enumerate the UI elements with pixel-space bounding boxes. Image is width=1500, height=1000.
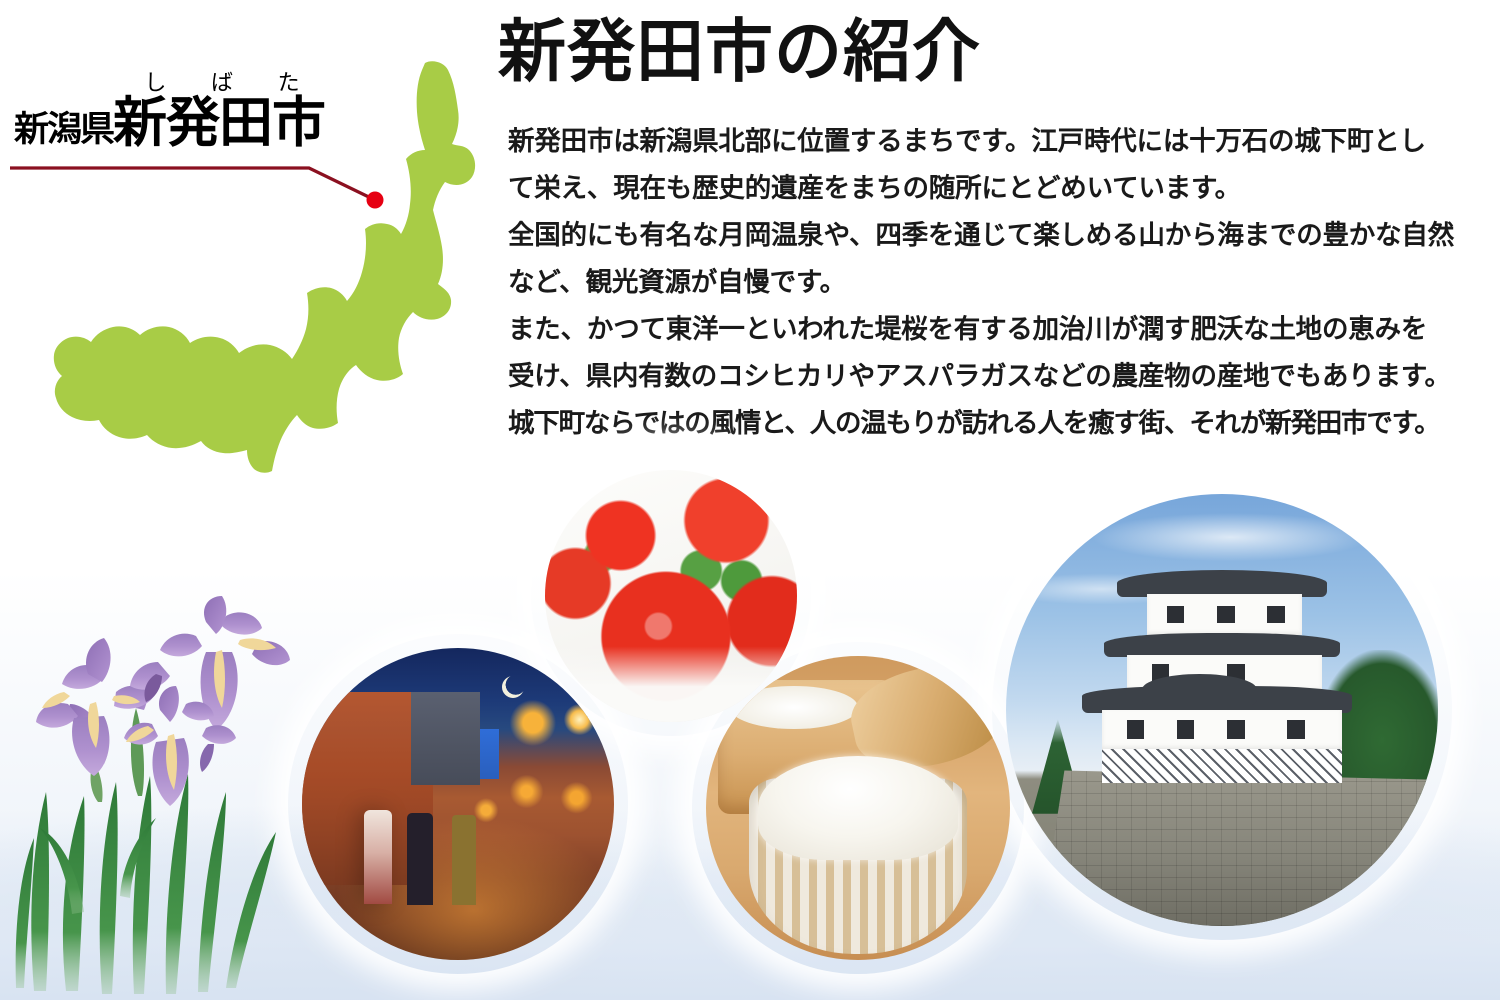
castle-image	[1006, 494, 1438, 926]
neon-sign	[480, 729, 499, 779]
body-line-4: など、観光資源が自慢です。	[508, 259, 1473, 306]
leader-polyline	[10, 168, 375, 200]
rice-image	[706, 656, 1010, 960]
window-top-3	[1267, 606, 1285, 623]
region-label-main: 新潟県新発田市	[14, 96, 325, 150]
poster-canvas: し ば た 新潟県新発田市 新発田市の紹介 新発田市は新潟県北部に位置するまちで…	[0, 0, 1500, 1000]
roof-dormer	[1142, 674, 1257, 705]
window-top-2	[1217, 606, 1235, 623]
furigana-row: し ば た	[122, 72, 322, 94]
city-name: 新発田市	[113, 93, 325, 153]
body-line-5: また、かつて東洋一といわれた堤桜を有する加治川が潤す肥沃な土地の恵みを	[508, 306, 1473, 353]
body-line-3: 全国的にも有名な月岡温泉や、四季を通じて楽しめる山から海までの豊かな自然	[508, 212, 1473, 259]
window-lower-2	[1177, 720, 1195, 739]
photo-rice-bowl	[706, 656, 1010, 960]
furigana-shi: し	[144, 72, 166, 94]
body-line-6: 受け、県内有数のコシヒカリやアスパラガスなどの農産物の産地でもあります。	[508, 353, 1473, 400]
iris-illustration	[10, 596, 310, 996]
page-title: 新発田市の紹介	[498, 18, 981, 86]
furigana-ta: た	[278, 72, 300, 94]
roof-mid	[1104, 633, 1340, 657]
ohitsu-rice	[730, 686, 858, 729]
window-top-1	[1167, 606, 1185, 623]
onsen-street-image	[302, 648, 614, 960]
furigana-ba: ば	[211, 72, 233, 94]
region-label: し ば た 新潟県新発田市	[14, 72, 334, 172]
photo-shibata-castle	[1006, 494, 1438, 926]
lamp-post	[587, 685, 589, 716]
cooked-rice	[758, 756, 959, 859]
photo-onsen-street	[302, 648, 614, 960]
castle-stone-wall	[1041, 770, 1438, 926]
body-line-1: 新発田市は新潟県北部に位置するまちです。江戸時代には十万石の城下町とし	[508, 118, 1473, 165]
body-line-2: て栄え、現在も歴史的遺産をまちの随所にとどめいています。	[508, 165, 1473, 212]
map-location-dot	[367, 192, 384, 209]
window-lower-4	[1287, 720, 1305, 739]
body-copy: 新発田市は新潟県北部に位置するまちです。江戸時代には十万石の城下町とし て栄え、…	[508, 118, 1473, 447]
crescent-moon-icon	[502, 676, 524, 698]
castle-keep	[1097, 546, 1348, 788]
window-lower-3	[1227, 720, 1245, 739]
roof-top	[1117, 570, 1327, 597]
building-center	[411, 692, 480, 786]
iris-leaves	[16, 774, 276, 994]
body-line-7: 城下町ならではの風情と、人の温もりが訪れる人を癒す街、それが新発田市です。	[508, 400, 1473, 447]
prefecture-name: 新潟県	[14, 110, 113, 149]
namako-wall	[1102, 749, 1343, 783]
window-lower-1	[1127, 720, 1145, 739]
street-lamp-glow	[564, 704, 595, 735]
